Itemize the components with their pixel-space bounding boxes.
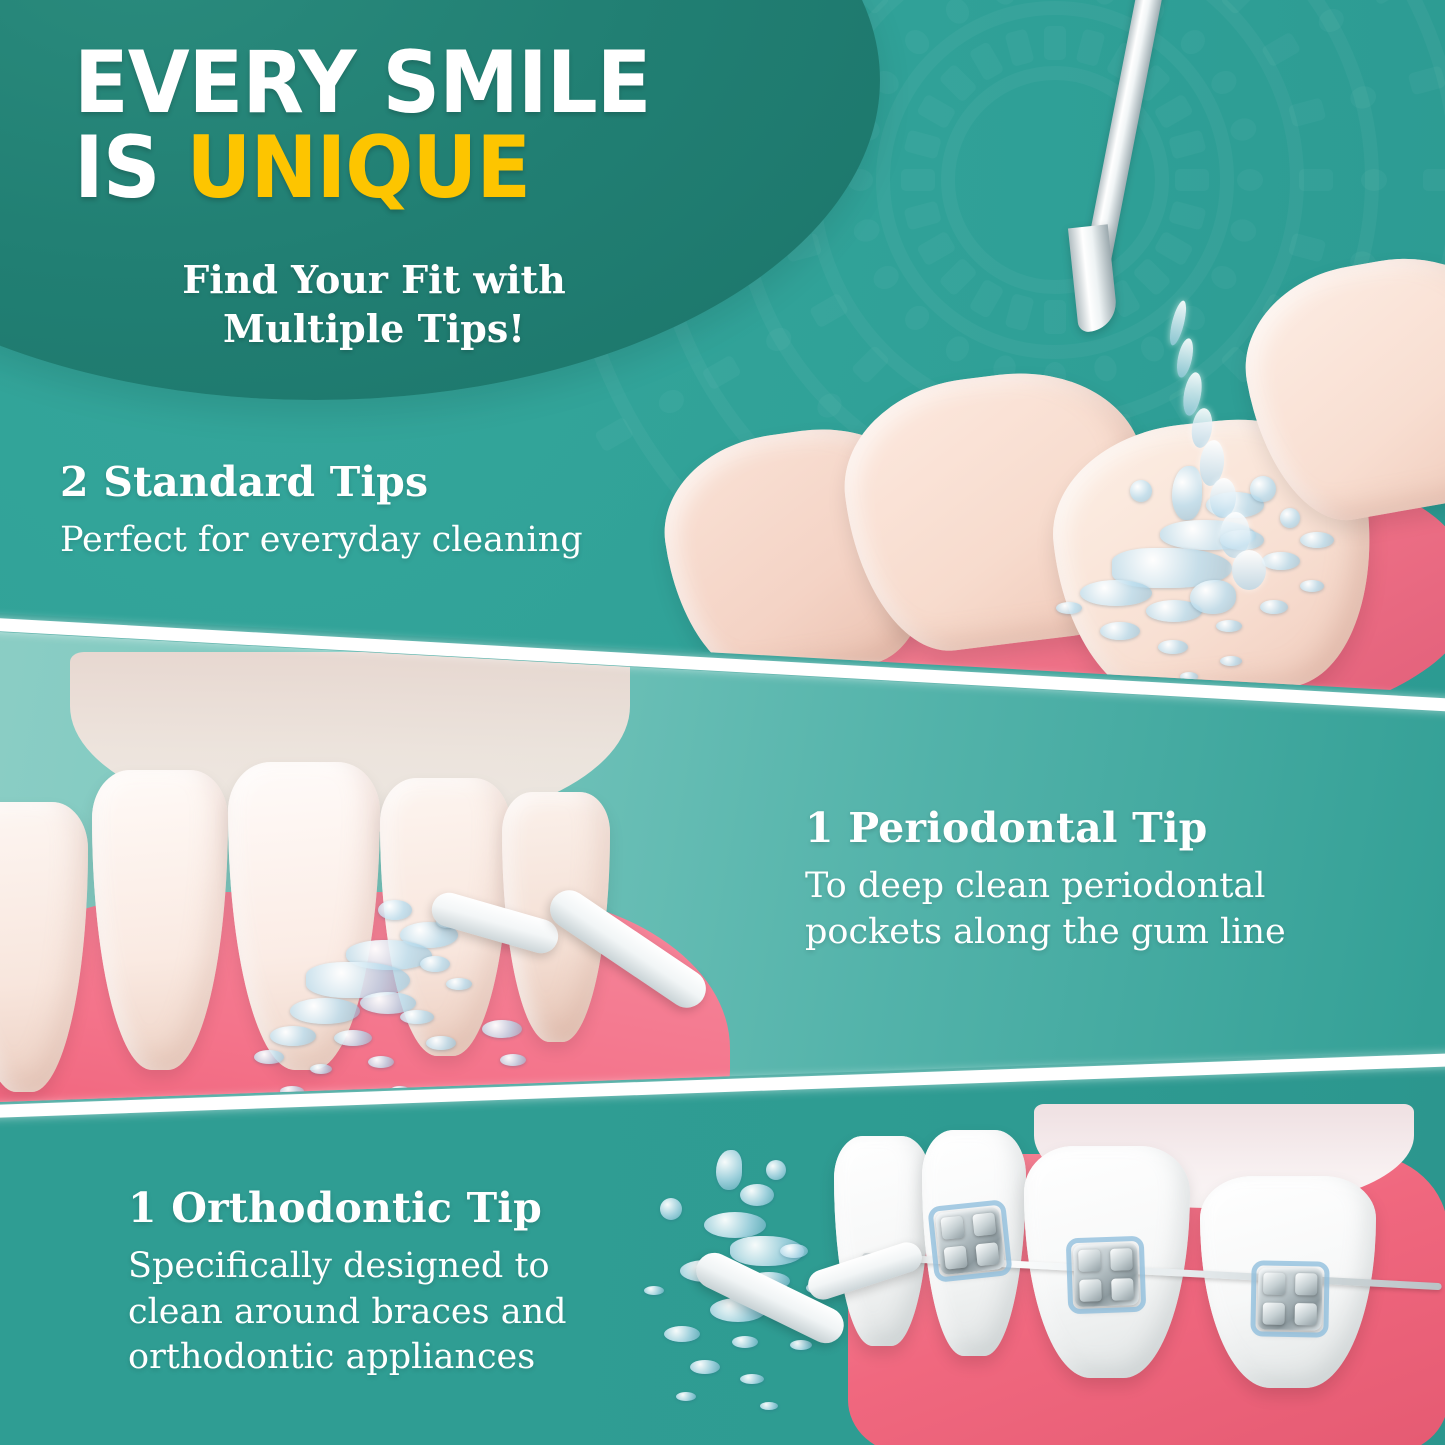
feature-description-line-1: Specifically designed to [128, 1244, 648, 1290]
headline-unique: UNIQUE [186, 118, 530, 218]
subtitle: Find Your Fit with Multiple Tips! [64, 256, 684, 353]
feature-block-standard: 2 Standard Tips Perfect for everyday cle… [60, 460, 700, 564]
headline-line-1: EVERY SMILE [74, 44, 725, 123]
bracket-wing [1078, 1249, 1101, 1272]
feature-title: 1 Orthodontic Tip [128, 1186, 648, 1231]
wand-nozzle [428, 889, 562, 958]
bracket-wing [1295, 1303, 1317, 1325]
bracket-wing [1079, 1279, 1102, 1302]
wand-handle [543, 883, 713, 1015]
elastic-o-ring [1250, 1260, 1329, 1337]
irrigator-wand-periodontal [430, 880, 730, 1110]
art-upper-molars [660, 280, 1445, 700]
headline: EVERY SMILE IS UNIQUE [74, 44, 774, 208]
headline-line-2: IS UNIQUE [74, 129, 725, 208]
bracket-wing [940, 1216, 964, 1240]
elastic-o-ring [1066, 1236, 1147, 1315]
bracket-wing [1263, 1273, 1285, 1295]
feature-description-line-3: orthodontic appliances [128, 1335, 648, 1381]
bracket-wing [1295, 1273, 1317, 1295]
feature-block-orthodontic: 1 Orthodontic Tip Specifically designed … [128, 1186, 648, 1381]
feature-description-line-2: pockets along the gum line [805, 910, 1385, 956]
bracket-wing [1110, 1248, 1133, 1271]
bracket-3 [1257, 1267, 1322, 1330]
subtitle-line-1: Find Your Fit with [64, 256, 684, 305]
bracket-wing [1263, 1303, 1285, 1325]
bracket-wing [972, 1212, 996, 1236]
feature-description: Specifically designed to clean around br… [128, 1244, 648, 1381]
feature-title: 1 Periodontal Tip [805, 806, 1385, 851]
feature-description: To deep clean periodontal pockets along … [805, 864, 1385, 955]
bracket-2 [1073, 1243, 1139, 1307]
feature-title: 2 Standard Tips [60, 460, 700, 505]
feature-description: Perfect for everyday cleaning [60, 518, 700, 564]
headline-is: IS [74, 118, 186, 218]
feature-description-line-1: To deep clean periodontal [805, 864, 1385, 910]
infographic-poster: EVERY SMILE IS UNIQUE Find Your Fit with… [0, 0, 1445, 1445]
bracket-wing [1111, 1278, 1134, 1301]
feature-block-periodontal: 1 Periodontal Tip To deep clean periodon… [805, 806, 1385, 955]
subtitle-line-2: Multiple Tips! [64, 305, 684, 354]
feature-description-line-2: clean around braces and [128, 1290, 648, 1336]
irrigator-wand-orthodontic [700, 1250, 960, 1440]
bracket-wing [975, 1242, 999, 1266]
